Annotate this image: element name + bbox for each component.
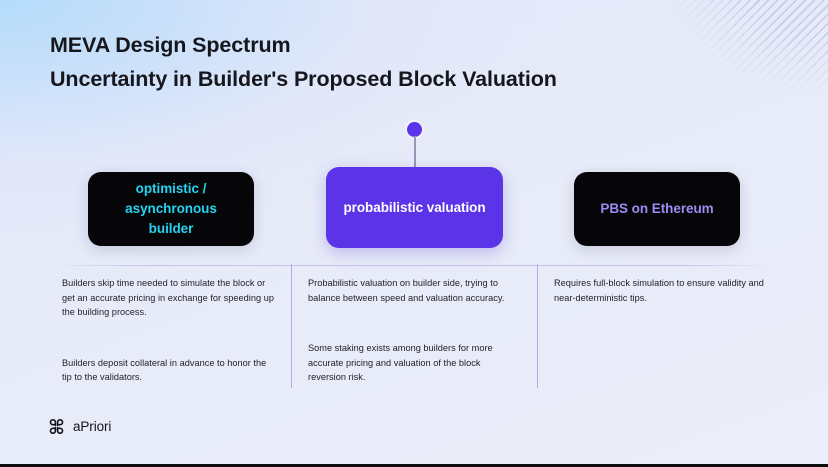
card-label: optimistic / asynchronous builder xyxy=(102,179,240,239)
column-divider-left xyxy=(291,264,292,388)
column-optimistic: Builders skip time needed to simulate th… xyxy=(62,276,277,385)
card-label-line-2: asynchronous builder xyxy=(125,201,217,236)
card-pbs-on-ethereum[interactable]: PBS on Ethereum xyxy=(574,172,740,246)
clover-mark-icon xyxy=(47,417,66,436)
slide-canvas: MEVA Design Spectrum Uncertainty in Buil… xyxy=(0,0,828,467)
column-paragraph: Probabilistic valuation on builder side,… xyxy=(308,276,520,305)
brand-logo: aPriori xyxy=(47,417,111,436)
column-paragraph: Requires full-block simulation to ensure… xyxy=(554,276,769,305)
card-optimistic-asynchronous-builder[interactable]: optimistic / asynchronous builder xyxy=(88,172,254,246)
page-title: MEVA Design Spectrum Uncertainty in Buil… xyxy=(50,28,750,96)
card-label: probabilistic valuation xyxy=(343,198,485,218)
column-probabilistic: Probabilistic valuation on builder side,… xyxy=(308,276,520,385)
card-label-line-1: optimistic / xyxy=(136,181,207,196)
title-line-primary: MEVA Design Spectrum xyxy=(50,28,750,62)
card-probabilistic-valuation[interactable]: probabilistic valuation xyxy=(326,167,503,248)
card-label: PBS on Ethereum xyxy=(600,199,713,219)
title-line-secondary: Uncertainty in Builder's Proposed Block … xyxy=(50,62,750,96)
column-paragraph: Builders skip time needed to simulate th… xyxy=(62,276,277,320)
connector-top-dot-icon xyxy=(407,122,422,137)
column-pbs: Requires full-block simulation to ensure… xyxy=(554,276,769,305)
column-paragraph: Some staking exists among builders for m… xyxy=(308,341,520,385)
horizontal-divider xyxy=(55,265,773,266)
column-divider-right xyxy=(537,264,538,388)
brand-name: aPriori xyxy=(73,419,111,434)
column-paragraph: Builders deposit collateral in advance t… xyxy=(62,356,277,385)
